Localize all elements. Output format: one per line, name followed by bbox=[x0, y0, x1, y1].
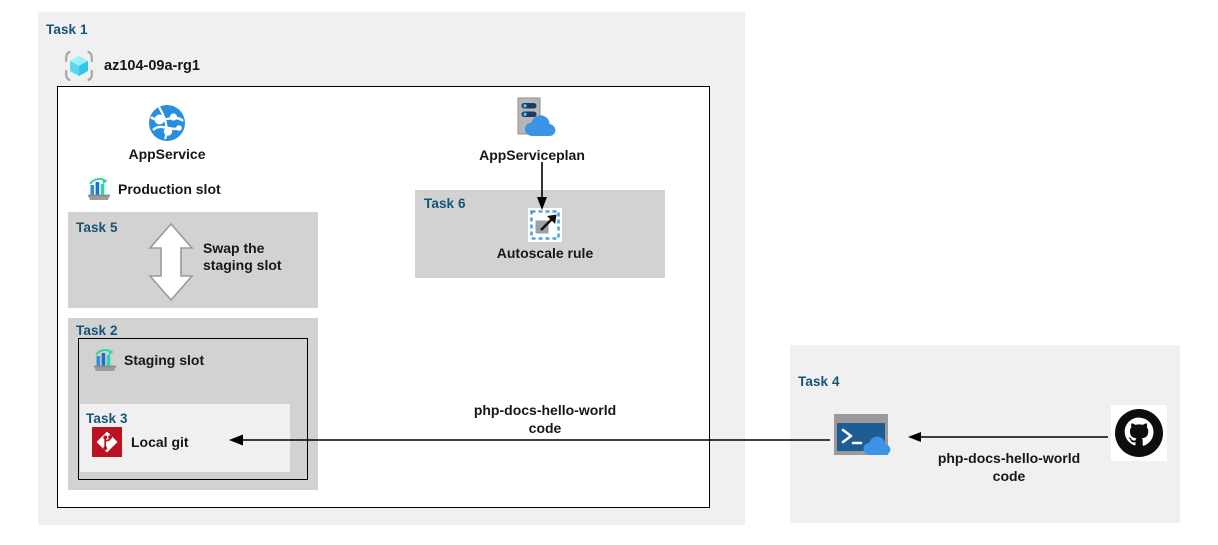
appservice-node: AppService bbox=[122, 103, 212, 162]
appservice-globe-icon bbox=[122, 103, 212, 143]
deployment-slot-icon bbox=[86, 176, 112, 202]
task1-label: Task 1 bbox=[46, 22, 88, 37]
resource-group-header: az104-09a-rg1 bbox=[62, 50, 200, 82]
diagram-canvas: Task 1 az104-09a-rg1 bbox=[0, 0, 1218, 545]
autoscale-arrow-icon bbox=[490, 208, 600, 242]
autoscale-rule-node: Autoscale rule bbox=[490, 208, 600, 261]
cloud-shell-icon bbox=[833, 412, 899, 458]
production-slot-label: Production slot bbox=[118, 181, 221, 197]
swap-action-text: Swap the staging slot bbox=[203, 240, 282, 274]
cloud-shell-node bbox=[833, 412, 899, 458]
git-icon bbox=[92, 427, 122, 457]
resource-group-icon bbox=[62, 50, 96, 82]
deployment-slot-icon bbox=[92, 347, 118, 373]
autoscale-rule-label: Autoscale rule bbox=[490, 245, 600, 261]
local-git-row: Local git bbox=[92, 427, 189, 457]
swap-action-line1: Swap the bbox=[203, 240, 282, 257]
resource-group-name: az104-09a-rg1 bbox=[104, 58, 200, 74]
appserviceplan-server-cloud-icon bbox=[472, 96, 592, 144]
center-code-label: php-docs-hello-world code bbox=[445, 401, 645, 437]
local-git-label: Local git bbox=[131, 434, 189, 450]
task6-label: Task 6 bbox=[424, 196, 466, 211]
staging-slot-row: Staging slot bbox=[92, 347, 204, 373]
github-icon bbox=[1111, 405, 1167, 461]
center-code-label-line2: code bbox=[445, 419, 645, 437]
production-slot-row: Production slot bbox=[86, 176, 221, 202]
swap-double-arrow-icon bbox=[146, 222, 196, 302]
task4-code-label-line2: code bbox=[909, 467, 1109, 485]
task5-label: Task 5 bbox=[76, 220, 118, 235]
appserviceplan-label: AppServiceplan bbox=[472, 147, 592, 163]
task4-code-label-line1: php-docs-hello-world bbox=[909, 449, 1109, 467]
center-code-label-line1: php-docs-hello-world bbox=[445, 401, 645, 419]
appservice-label: AppService bbox=[122, 146, 212, 162]
github-node bbox=[1111, 405, 1167, 461]
appserviceplan-node: AppServiceplan bbox=[472, 96, 592, 163]
task2-label: Task 2 bbox=[76, 323, 118, 338]
task3-label: Task 3 bbox=[86, 411, 128, 426]
staging-slot-label: Staging slot bbox=[124, 352, 204, 368]
swap-action-line2: staging slot bbox=[203, 257, 282, 274]
task4-label: Task 4 bbox=[798, 374, 840, 389]
task4-code-label: php-docs-hello-world code bbox=[909, 449, 1109, 485]
